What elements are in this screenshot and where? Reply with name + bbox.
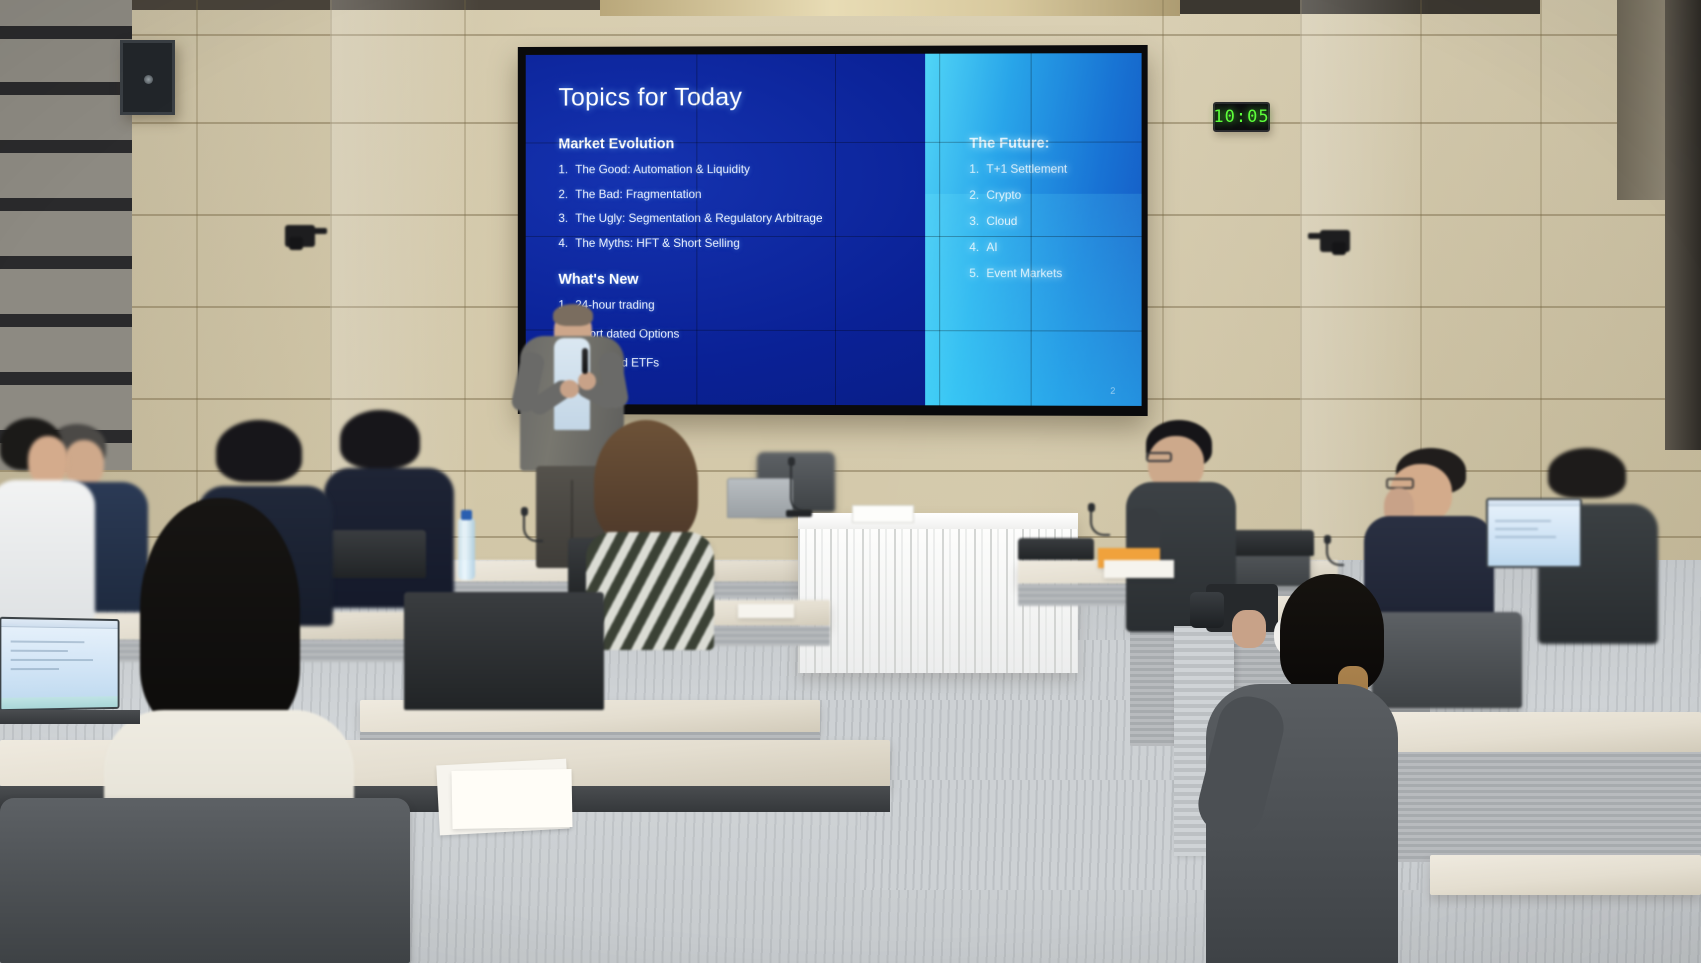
- wall-edge-dark: [1665, 0, 1701, 450]
- wall-camera-icon: [1320, 230, 1350, 252]
- laptop-toolbar: [1488, 500, 1580, 506]
- torso-patterned: [586, 532, 714, 650]
- hair: [216, 420, 302, 482]
- slide-bullet: 1.T+1 Settlement: [969, 162, 1141, 176]
- presenter-hand-right: [578, 372, 596, 390]
- wall-camera-icon: [285, 225, 315, 247]
- table-top: [798, 513, 1078, 529]
- slide-right-column: The Future: 1.T+1 Settlement 2.Crypto 3.…: [969, 135, 1141, 292]
- right-laptop-screen[interactable]: [1486, 498, 1582, 568]
- paper-document: [1104, 560, 1174, 578]
- bullet-number: 3.: [558, 211, 575, 225]
- camera-lens-icon: [1190, 592, 1224, 628]
- slide-bullet: 2.The Bad: Fragmentation: [558, 186, 917, 200]
- desk-monitor[interactable]: [404, 592, 604, 710]
- foreground-laptop-screen[interactable]: [0, 617, 120, 712]
- slide-section-heading: The Future:: [969, 135, 1141, 151]
- bullet-text: Cloud: [986, 214, 1017, 228]
- ceiling-dark-left: [132, 0, 602, 10]
- bullet-text: The Ugly: Segmentation & Regulatory Arbi…: [575, 211, 822, 225]
- slide-bullet: 4.AI: [969, 240, 1141, 254]
- water-bottle: [458, 518, 475, 580]
- conference-room-scene: Topics for Today Market Evolution 1.The …: [0, 0, 1701, 963]
- laptop-toolbar: [1, 619, 117, 629]
- panelist-laptop[interactable]: [727, 478, 793, 518]
- slide-bullet: 4.The Myths: HFT & Short Selling: [558, 235, 917, 249]
- bullet-number: 4.: [558, 235, 575, 249]
- wall-speaker: [120, 40, 175, 115]
- bullet-text: Crypto: [986, 188, 1021, 202]
- slide-section-heading: What's New: [558, 271, 917, 287]
- desk-laptop-closed[interactable]: [1228, 530, 1314, 556]
- slide-bullet: 3.The Ugly: Segmentation & Regulatory Ar…: [558, 211, 917, 225]
- bullet-number: 2.: [969, 188, 986, 202]
- torso: [0, 480, 95, 620]
- presenter-hand-left: [560, 380, 579, 398]
- bullet-text: The Good: Automation & Liquidity: [575, 162, 750, 176]
- laptop-taskbar: [1, 697, 117, 710]
- chair-foreground[interactable]: [0, 798, 410, 963]
- bullet-number: 1.: [558, 162, 575, 176]
- hair: [1280, 574, 1384, 692]
- microphone-base: [786, 510, 812, 517]
- name-card: [852, 505, 914, 523]
- digital-wall-clock: 10:05: [1213, 102, 1270, 132]
- desk-laptop-closed[interactable]: [1018, 538, 1094, 560]
- ceiling-dark-right: [1180, 0, 1540, 14]
- bullet-number: 3.: [969, 214, 986, 228]
- bullet-text: T+1 Settlement: [986, 162, 1067, 176]
- desk-monitor[interactable]: [330, 530, 426, 578]
- slide-section-heading: Market Evolution: [558, 136, 917, 153]
- slide-bullet: 1.24-hour trading: [558, 297, 917, 311]
- laptop-base: [0, 710, 140, 724]
- bullet-text: The Bad: Fragmentation: [575, 187, 701, 201]
- ceiling-light-strip: [600, 0, 1180, 16]
- speaker-cone: [144, 75, 153, 84]
- chair[interactable]: [1372, 612, 1522, 708]
- gooseneck-microphone: [1090, 508, 1110, 536]
- slide-bullet: 2.Crypto: [969, 188, 1141, 202]
- clock-time: 10:05: [1213, 107, 1269, 127]
- desk-right-front: [1430, 855, 1701, 895]
- bullet-text: The Myths: HFT & Short Selling: [575, 235, 740, 249]
- gooseneck-microphone: [790, 462, 812, 512]
- slide-page-number: 2: [1110, 386, 1115, 396]
- wall-seam: [0, 34, 1701, 36]
- bullet-text: Event Markets: [986, 266, 1062, 280]
- hair: [140, 498, 300, 728]
- bullet-number: 1.: [969, 162, 986, 176]
- wall-edge-panel: [1617, 0, 1665, 200]
- gooseneck-microphone: [523, 512, 543, 542]
- head: [28, 436, 68, 484]
- hair: [1548, 448, 1626, 498]
- handheld-microphone: [582, 348, 588, 374]
- presenter-hair: [553, 304, 593, 326]
- desk-right-lower-front: [1380, 752, 1701, 862]
- glasses-icon: [1146, 452, 1172, 462]
- bullet-number: 5.: [969, 266, 986, 280]
- slatted-wall-left: [0, 0, 132, 470]
- bullet-number: 2.: [558, 187, 575, 201]
- slide-bullet: 5.Event Markets: [969, 266, 1141, 280]
- slide-bullet: 3.Cloud: [969, 214, 1141, 228]
- bullet-number: 4.: [969, 240, 986, 254]
- panel-bezel: [939, 54, 940, 406]
- slide-title: Topics for Today: [558, 83, 742, 112]
- notebook-page: [452, 769, 573, 829]
- slide-bullet: 1.The Good: Automation & Liquidity: [558, 162, 917, 176]
- paper-document: [738, 604, 794, 618]
- hair: [340, 410, 420, 468]
- bullet-text: AI: [986, 240, 997, 254]
- hair: [594, 420, 698, 544]
- desk-right-lower: [1380, 712, 1701, 752]
- hand: [1232, 610, 1266, 648]
